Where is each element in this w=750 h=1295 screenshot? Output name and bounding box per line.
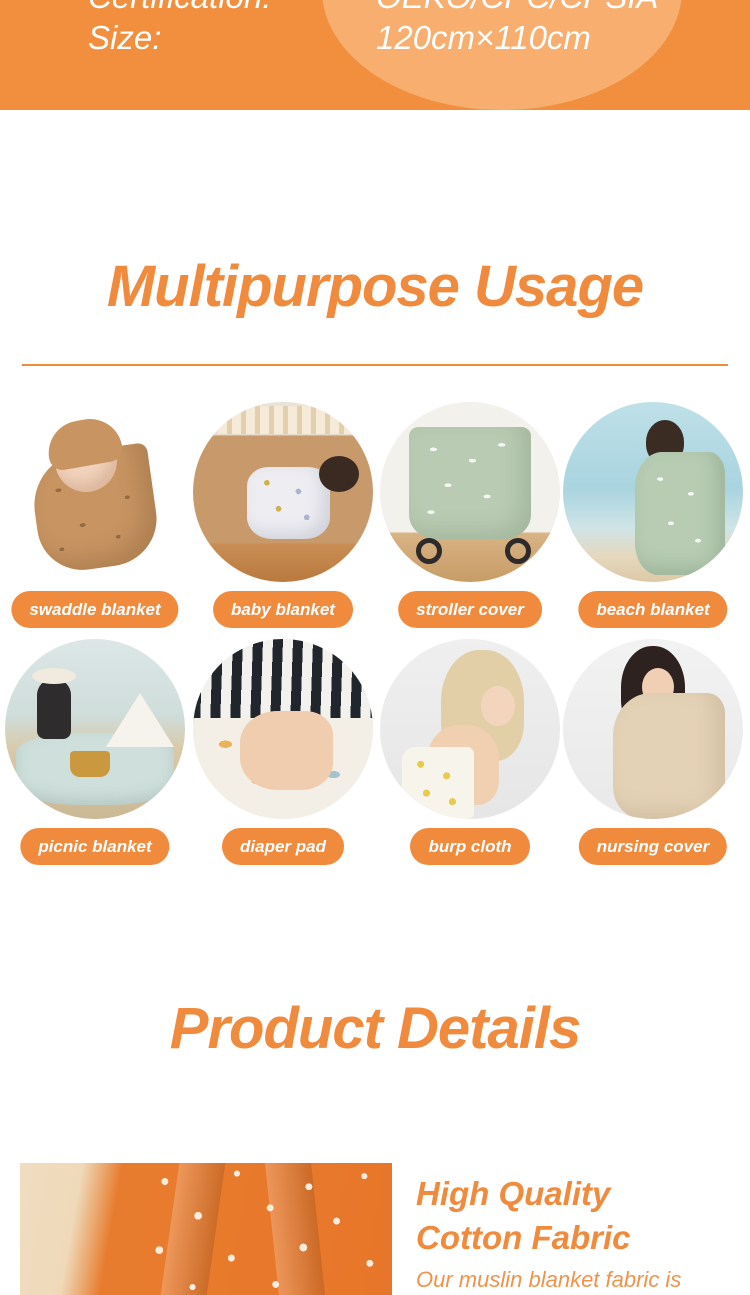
baby-blanket-thumbnail[interactable]	[193, 402, 373, 582]
usage-label-pill[interactable]: picnic blanket	[20, 828, 169, 865]
fabric-feature-title-line-1: High Quality	[416, 1172, 736, 1216]
swaddle-blanket-thumbnail[interactable]	[5, 402, 185, 582]
certification-label: Certification:	[88, 0, 348, 17]
usage-label-pill[interactable]: burp cloth	[410, 828, 530, 865]
nursing-cover-thumbnail[interactable]	[563, 639, 743, 819]
usage-item-stroller-cover[interactable]: stroller cover	[375, 400, 565, 637]
certification-value: OEKO/CPC/CPSIA	[376, 0, 706, 17]
stroller-cover-thumbnail[interactable]	[380, 402, 560, 582]
fabric-feature-title: High Quality Cotton Fabric	[416, 1172, 736, 1260]
size-value: 120cm×110cm	[376, 17, 706, 58]
usage-label-pill[interactable]: stroller cover	[398, 591, 542, 628]
usage-item-swaddle-blanket[interactable]: swaddle blanket	[0, 400, 190, 637]
usage-item-burp-cloth[interactable]: burp cloth	[375, 637, 565, 874]
usage-item-baby-blanket[interactable]: baby blanket	[188, 400, 378, 637]
burp-cloth-thumbnail[interactable]	[380, 639, 560, 819]
usage-row: picnic blanket diaper pad	[0, 637, 750, 874]
banner-spec-labels: Certification: Size:	[88, 0, 348, 59]
usage-item-diaper-pad[interactable]: diaper pad	[188, 637, 378, 874]
usage-label-pill[interactable]: nursing cover	[579, 828, 727, 865]
usage-label-pill[interactable]: baby blanket	[213, 591, 353, 628]
fabric-feature-body: Our muslin blanket fabric is	[416, 1266, 736, 1295]
diaper-pad-thumbnail[interactable]	[193, 639, 373, 819]
usage-grid: swaddle blanket baby blanket strolle	[0, 400, 750, 874]
fabric-closeup-image	[20, 1163, 392, 1295]
beach-blanket-thumbnail[interactable]	[563, 402, 743, 582]
usage-label-pill[interactable]: diaper pad	[222, 828, 344, 865]
usage-row: swaddle blanket baby blanket strolle	[0, 400, 750, 637]
fabric-feature-title-line-2: Cotton Fabric	[416, 1216, 736, 1260]
multipurpose-usage-heading: Multipurpose Usage	[0, 258, 750, 316]
picnic-blanket-thumbnail[interactable]	[5, 639, 185, 819]
specification-banner: Certification: Size: OEKO/CPC/CPSIA 120c…	[0, 0, 750, 110]
size-label: Size:	[88, 17, 348, 58]
usage-item-beach-blanket[interactable]: beach blanket	[558, 400, 748, 637]
section-divider	[22, 364, 728, 366]
usage-label-pill[interactable]: swaddle blanket	[11, 591, 178, 628]
product-details-heading: Product Details	[0, 1000, 750, 1058]
usage-item-nursing-cover[interactable]: nursing cover	[558, 637, 748, 874]
banner-spec-values: OEKO/CPC/CPSIA 120cm×110cm	[376, 0, 706, 59]
usage-label-pill[interactable]: beach blanket	[578, 591, 727, 628]
usage-item-picnic-blanket[interactable]: picnic blanket	[0, 637, 190, 874]
